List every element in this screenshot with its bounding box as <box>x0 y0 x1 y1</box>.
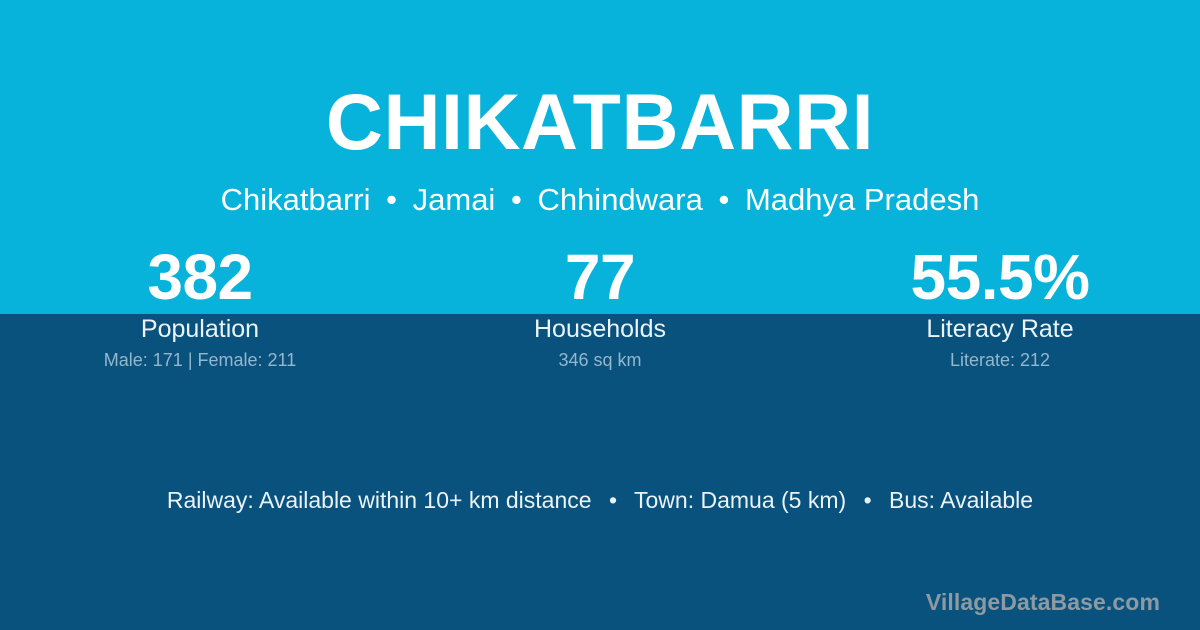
infra-item-bus: Bus: Available <box>889 487 1033 513</box>
stat-value: 55.5% <box>800 245 1200 309</box>
stat-detail: Literate: 212 <box>800 350 1200 370</box>
stat-label: Households <box>400 315 800 343</box>
site-brand-watermark: VillageDataBase.com <box>926 588 1160 616</box>
breadcrumb-state: Madhya Pradesh <box>745 182 979 217</box>
infra-item-town: Town: Damua (5 km) <box>634 487 846 513</box>
breadcrumb-block: Jamai <box>413 182 496 217</box>
stat-literacy-rate: 55.5% Literacy Rate Literate: 212 <box>800 245 1200 385</box>
infra-separator-icon: • <box>853 487 883 513</box>
stat-population: 382 Population Male: 171 | Female: 211 <box>0 245 400 385</box>
village-info-card: CHIKATBARRI Chikatbarri • Jamai • Chhind… <box>0 0 1200 630</box>
breadcrumb-separator-icon: • <box>504 182 529 217</box>
breadcrumb-village: Chikatbarri <box>221 182 371 217</box>
breadcrumb: Chikatbarri • Jamai • Chhindwara • Madhy… <box>0 181 1200 218</box>
stat-label: Population <box>0 315 400 343</box>
infra-separator-icon: • <box>598 487 628 513</box>
stat-detail: Male: 171 | Female: 211 <box>0 350 400 370</box>
stat-value: 382 <box>0 245 400 309</box>
stat-label: Literacy Rate <box>800 315 1200 343</box>
stats-row: 382 Population Male: 171 | Female: 211 7… <box>0 245 1200 385</box>
stat-detail: 346 sq km <box>400 350 800 370</box>
breadcrumb-district: Chhindwara <box>537 182 702 217</box>
page-title: CHIKATBARRI <box>0 82 1200 161</box>
breadcrumb-separator-icon: • <box>712 182 737 217</box>
stat-value: 77 <box>400 245 800 309</box>
breadcrumb-separator-icon: • <box>379 182 404 217</box>
infra-item-railway: Railway: Available within 10+ km distanc… <box>167 487 592 513</box>
stat-households: 77 Households 346 sq km <box>400 245 800 385</box>
infrastructure-summary: Railway: Available within 10+ km distanc… <box>0 484 1200 516</box>
